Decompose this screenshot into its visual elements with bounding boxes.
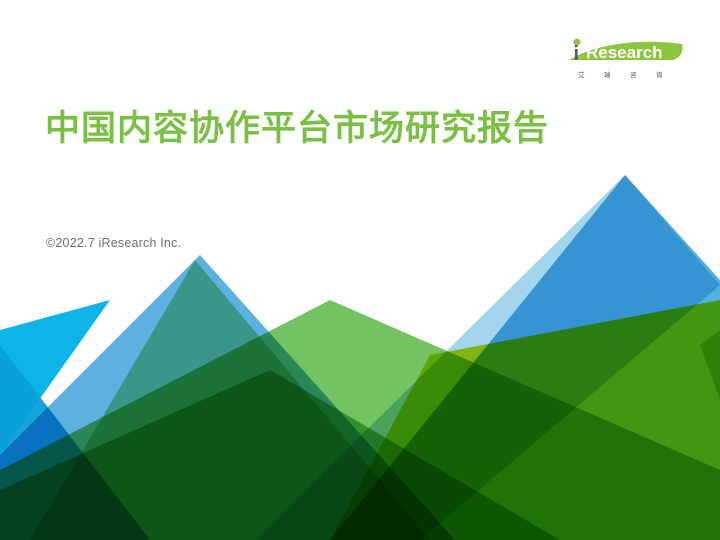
- logo-graphic: i Research 艾 瑞 咨 询: [566, 34, 686, 80]
- logo-wordmark: Research: [586, 43, 663, 62]
- logo-chinese-2: 瑞: [604, 70, 611, 79]
- copyright-text: ©2022.7 iResearch Inc.: [46, 236, 181, 250]
- logo-chinese-4: 询: [656, 70, 663, 79]
- background-artwork: .layer { mix-blend-mode: multiply; }: [0, 0, 720, 540]
- logo-chinese-1: 艾: [578, 71, 585, 79]
- slide-canvas: .layer { mix-blend-mode: multiply; }: [0, 0, 720, 540]
- logo-chinese-3: 咨: [630, 70, 637, 79]
- logo-letter-i: i: [574, 43, 580, 65]
- page-title: 中国内容协作平台市场研究报告: [45, 105, 605, 152]
- iresearch-logo: i Research 艾 瑞 咨 询: [566, 34, 686, 80]
